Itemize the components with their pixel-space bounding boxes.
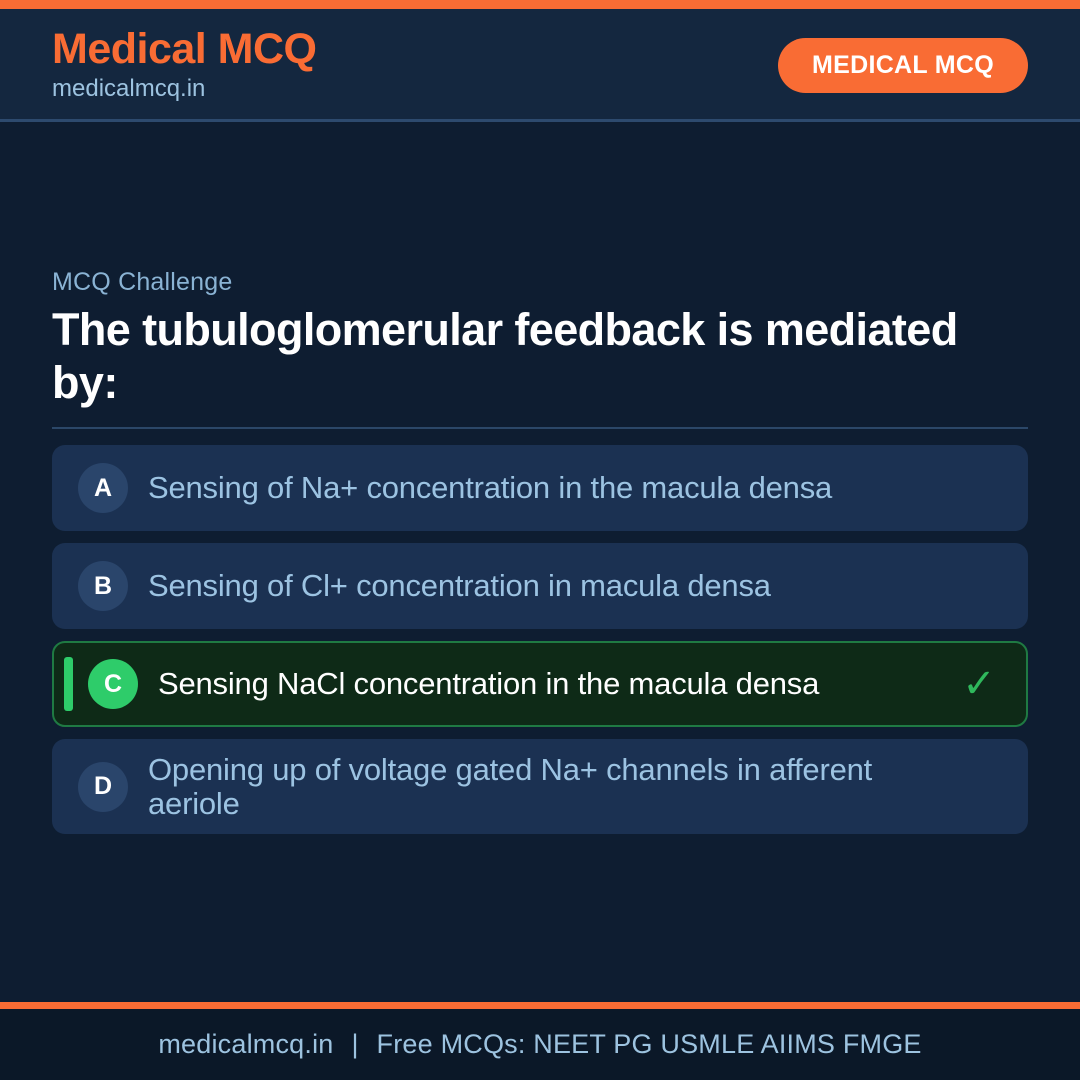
question-block: MCQ Challenge The tubuloglomerular feedb… bbox=[52, 268, 1028, 834]
check-icon: ✓ bbox=[956, 664, 1002, 704]
option-text: Sensing of Cl+ concentration in macula d… bbox=[148, 569, 956, 602]
page-footer: medicalmcq.in | Free MCQs: NEET PG USMLE… bbox=[0, 1009, 1080, 1080]
eyebrow-label: MCQ Challenge bbox=[52, 268, 1028, 297]
brand: Medical MCQ medicalmcq.in bbox=[52, 27, 317, 105]
option-row-d[interactable]: D Opening up of voltage gated Na+ channe… bbox=[52, 739, 1028, 834]
option-text: Sensing of Na+ concentration in the macu… bbox=[148, 471, 956, 504]
main-content: MCQ Challenge The tubuloglomerular feedb… bbox=[0, 122, 1080, 1002]
header-badge: MEDICAL MCQ bbox=[778, 38, 1028, 93]
question-divider bbox=[52, 427, 1028, 429]
option-row-a[interactable]: A Sensing of Na+ concentration in the ma… bbox=[52, 445, 1028, 531]
option-text: Opening up of voltage gated Na+ channels… bbox=[148, 753, 956, 820]
option-letter-badge: C bbox=[88, 659, 138, 709]
option-letter-badge: D bbox=[78, 762, 128, 812]
brand-subtitle: medicalmcq.in bbox=[52, 74, 317, 104]
footer-separator: | bbox=[352, 1029, 359, 1060]
page-header: Medical MCQ medicalmcq.in MEDICAL MCQ bbox=[0, 9, 1080, 122]
footer-site: medicalmcq.in bbox=[158, 1029, 333, 1060]
footer-tags: Free MCQs: NEET PG USMLE AIIMS FMGE bbox=[377, 1029, 922, 1060]
option-row-c[interactable]: C Sensing NaCl concentration in the macu… bbox=[52, 641, 1028, 727]
option-letter-badge: B bbox=[78, 561, 128, 611]
options-list: A Sensing of Na+ concentration in the ma… bbox=[52, 445, 1028, 834]
footer-accent-bar bbox=[0, 1002, 1080, 1009]
mcq-card-page: Medical MCQ medicalmcq.in MEDICAL MCQ MC… bbox=[0, 0, 1080, 1080]
option-row-b[interactable]: B Sensing of Cl+ concentration in macula… bbox=[52, 543, 1028, 629]
option-letter-badge: A bbox=[78, 463, 128, 513]
question-text: The tubuloglomerular feedback is mediate… bbox=[52, 303, 1028, 409]
top-accent-bar bbox=[0, 0, 1080, 9]
brand-title: Medical MCQ bbox=[52, 27, 317, 73]
correct-accent-bar bbox=[64, 657, 73, 711]
option-text: Sensing NaCl concentration in the macula… bbox=[158, 667, 956, 700]
